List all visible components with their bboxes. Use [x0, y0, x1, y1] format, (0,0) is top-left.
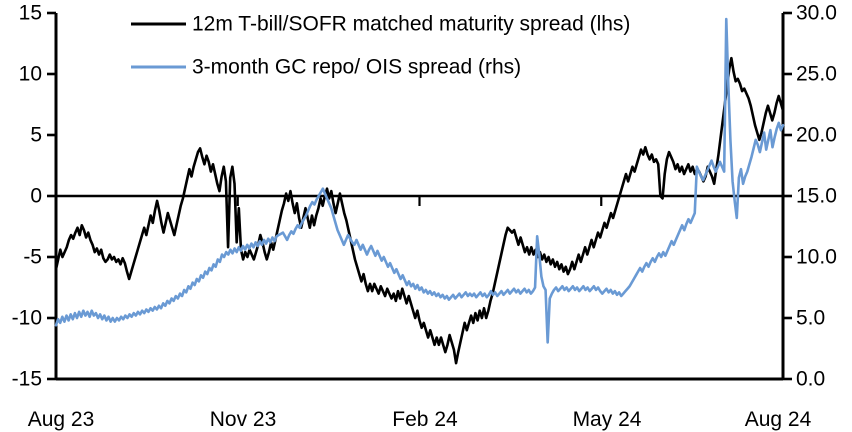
right-axis-tick-label-30: 30.0 [796, 3, 837, 24]
x-axis-tick-label-feb24: Feb 24 [392, 409, 457, 430]
left-axis-tick-label-neg15: -15 [0, 369, 42, 390]
series-line-0 [56, 58, 783, 363]
right-axis-tick-label-25: 25.0 [796, 64, 837, 85]
x-axis-tick-label-may24: May 24 [573, 409, 642, 430]
chart-container: 12m T-bill/SOFR matched maturity spread … [0, 0, 852, 432]
left-axis-tick-label-0: 0 [0, 186, 42, 207]
legend-label-0: 12m T-bill/SOFR matched maturity spread … [192, 14, 630, 35]
legend-label-1: 3-month GC repo/ OIS spread (rhs) [192, 57, 521, 78]
right-axis-tick-label-0: 0.0 [796, 369, 825, 390]
x-axis-tick-label-nov23: Nov 23 [210, 409, 277, 430]
legend-swatches-group [131, 24, 186, 67]
left-axis-tick-label-neg10: -10 [0, 308, 42, 329]
left-axis-tick-label-5: 5 [0, 125, 42, 146]
right-axis-tick-label-5: 5.0 [796, 308, 825, 329]
x-axis-tick-label-aug24: Aug 24 [745, 409, 812, 430]
right-axis-tick-label-10: 10.0 [796, 247, 837, 268]
left-axis-tick-label-neg5: -5 [0, 247, 42, 268]
right-axis-tick-label-20: 20.0 [796, 125, 837, 146]
right-axis-tick-label-15: 15.0 [796, 186, 837, 207]
left-axis-tick-label-15: 15 [0, 3, 42, 24]
left-axis-tick-label-10: 10 [0, 64, 42, 85]
x-axis-tick-label-aug23: Aug 23 [28, 409, 95, 430]
